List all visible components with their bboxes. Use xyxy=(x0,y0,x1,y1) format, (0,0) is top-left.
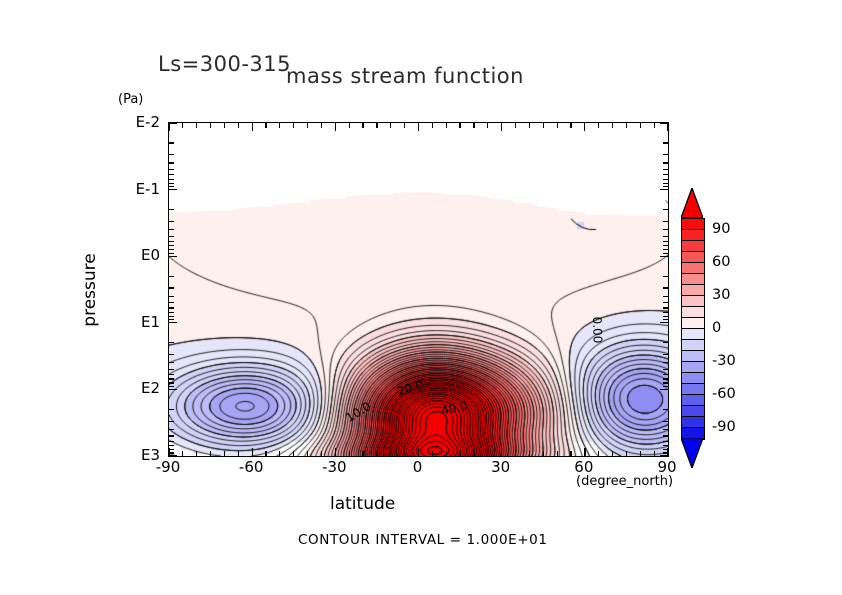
y-tick-minor xyxy=(169,241,174,242)
y-tick-minor xyxy=(663,287,668,288)
y-tick-minor xyxy=(169,386,174,387)
x-tick-minor xyxy=(487,451,488,456)
y-tick-minor xyxy=(663,316,668,317)
y-tick-minor xyxy=(663,445,668,446)
x-tick-minor xyxy=(265,451,266,456)
contour-interval-caption: CONTOUR INTERVAL = 1.000E+01 xyxy=(298,532,548,548)
y-tick-minor xyxy=(663,183,668,184)
x-tick-top xyxy=(418,123,419,131)
x-tick-top xyxy=(654,123,655,128)
y-tick-minor xyxy=(663,441,668,442)
y-tick-major xyxy=(660,455,668,456)
y-tick-minor xyxy=(663,296,668,297)
y-tick-label: E1 xyxy=(141,313,160,331)
y-tick-minor xyxy=(663,342,668,343)
x-tick-minor xyxy=(307,451,308,456)
y-axis-ticklabels: E-2E-1E0E1E2E3 xyxy=(110,122,164,455)
y-tick-minor xyxy=(169,307,174,308)
x-tick-top xyxy=(362,123,363,128)
x-tick-minor xyxy=(390,451,391,456)
y-tick-minor xyxy=(663,362,668,363)
contour-value-label: 20.0 xyxy=(395,377,425,399)
y-tick-minor xyxy=(663,245,668,246)
y-tick-minor xyxy=(169,186,174,187)
y-tick-minor xyxy=(663,421,668,422)
x-tick-label: -90 xyxy=(156,458,181,476)
x-tick-top xyxy=(432,123,433,128)
x-tick-label: 90 xyxy=(657,458,676,476)
x-axis-unit-label: (degree_north) xyxy=(576,474,673,489)
colorbar-band xyxy=(682,285,704,296)
x-tick-top xyxy=(335,123,336,131)
y-tick-minor xyxy=(663,154,668,155)
y-tick-minor xyxy=(663,241,668,242)
y-tick-minor xyxy=(169,382,174,383)
x-tick-minor xyxy=(543,451,544,456)
colorbar-band xyxy=(682,263,704,274)
y-tick-minor xyxy=(169,142,174,143)
colorbar-band xyxy=(682,417,704,428)
x-tick-minor xyxy=(321,451,322,456)
y-tick-minor xyxy=(169,362,174,363)
x-tick-major xyxy=(252,448,253,456)
y-tick-minor xyxy=(169,245,174,246)
x-tick-top xyxy=(307,123,308,128)
y-tick-minor xyxy=(663,174,668,175)
x-tick-top xyxy=(265,123,266,128)
x-tick-minor xyxy=(626,451,627,456)
y-tick-minor xyxy=(169,445,174,446)
colorbar-band xyxy=(682,406,704,417)
plot-overlay: 10.020.040.00.00 xyxy=(169,123,668,456)
y-tick-minor xyxy=(169,249,174,250)
x-tick-minor xyxy=(473,451,474,456)
y-tick-minor xyxy=(663,382,668,383)
x-tick-major xyxy=(418,448,419,456)
y-tick-minor xyxy=(663,249,668,250)
y-tick-minor xyxy=(169,354,174,355)
x-tick-label: -60 xyxy=(239,458,264,476)
x-tick-minor xyxy=(224,451,225,456)
y-tick-minor xyxy=(169,296,174,297)
x-tick-minor xyxy=(376,451,377,456)
y-tick-major xyxy=(660,189,668,190)
x-tick-minor xyxy=(515,451,516,456)
y-tick-minor xyxy=(663,253,668,254)
x-tick-minor xyxy=(529,451,530,456)
colorbar-band xyxy=(682,219,704,230)
y-tick-label: E0 xyxy=(141,246,160,264)
x-tick-top xyxy=(529,123,530,128)
y-tick-minor xyxy=(663,307,668,308)
y-tick-minor xyxy=(169,253,174,254)
y-tick-minor xyxy=(169,452,174,453)
x-tick-top xyxy=(168,123,169,131)
x-tick-top xyxy=(667,123,668,131)
colorbar-band xyxy=(682,340,704,351)
y-tick-minor xyxy=(663,429,668,430)
y-tick-minor xyxy=(663,221,668,222)
y-tick-minor xyxy=(169,342,174,343)
y-tick-major xyxy=(660,256,668,257)
contour-value-label: 10.0 xyxy=(343,399,373,425)
x-tick-minor xyxy=(598,451,599,456)
x-tick-major xyxy=(335,448,336,456)
colorbar-band xyxy=(682,274,704,285)
y-tick-minor xyxy=(169,429,174,430)
y-axis-label: pressure xyxy=(80,190,100,390)
colorbar[interactable] xyxy=(681,218,705,440)
x-tick-minor xyxy=(196,451,197,456)
y-tick-minor xyxy=(663,374,668,375)
x-tick-minor xyxy=(459,451,460,456)
x-tick-major xyxy=(501,448,502,456)
y-tick-minor xyxy=(169,169,174,170)
x-tick-label: 30 xyxy=(491,458,510,476)
y-tick-label: E-2 xyxy=(136,113,160,131)
x-tick-minor xyxy=(570,451,571,456)
contour-value-label: 0.00 xyxy=(590,316,605,343)
y-tick-minor xyxy=(663,179,668,180)
x-tick-top xyxy=(626,123,627,128)
y-tick-minor xyxy=(663,409,668,410)
colorbar-tick-label: 90 xyxy=(712,221,730,237)
x-tick-minor xyxy=(432,451,433,456)
x-tick-minor xyxy=(557,451,558,456)
y-tick-minor xyxy=(169,174,174,175)
x-tick-minor xyxy=(238,451,239,456)
y-tick-minor xyxy=(169,316,174,317)
y-tick-minor xyxy=(663,449,668,450)
y-tick-minor xyxy=(663,236,668,237)
x-tick-top xyxy=(224,123,225,128)
y-tick-minor xyxy=(169,162,174,163)
colorbar-tick-label: 60 xyxy=(712,254,730,270)
x-tick-top xyxy=(279,123,280,128)
x-tick-major xyxy=(584,448,585,456)
y-tick-minor xyxy=(169,374,174,375)
colorbar-band xyxy=(682,395,704,406)
x-tick-top xyxy=(321,123,322,128)
colorbar-band xyxy=(682,318,704,329)
y-tick-minor xyxy=(169,319,174,320)
colorbar-band xyxy=(682,241,704,252)
x-tick-top xyxy=(473,123,474,128)
y-tick-minor xyxy=(169,302,174,303)
x-tick-top xyxy=(238,123,239,128)
y-tick-minor xyxy=(169,378,174,379)
y-tick-minor xyxy=(663,435,668,436)
colorbar-band xyxy=(682,384,704,395)
x-tick-top xyxy=(404,123,405,128)
y-tick-minor xyxy=(663,369,668,370)
y-tick-minor xyxy=(663,142,668,143)
x-tick-minor xyxy=(279,451,280,456)
x-tick-top xyxy=(515,123,516,128)
x-tick-top xyxy=(349,123,350,128)
x-tick-top xyxy=(446,123,447,128)
y-tick-minor xyxy=(169,179,174,180)
y-tick-major xyxy=(660,122,668,123)
x-tick-minor xyxy=(446,451,447,456)
y-tick-major xyxy=(660,389,668,390)
colorbar-band xyxy=(682,296,704,307)
x-tick-minor xyxy=(182,451,183,456)
y-tick-minor xyxy=(169,154,174,155)
y-tick-minor xyxy=(663,312,668,313)
y-tick-minor xyxy=(663,276,668,277)
y-tick-minor xyxy=(169,409,174,410)
page-title: mass stream function xyxy=(286,64,524,88)
y-tick-minor xyxy=(169,312,174,313)
x-tick-top xyxy=(557,123,558,128)
x-tick-minor xyxy=(612,451,613,456)
y-tick-label: E-1 xyxy=(136,180,160,198)
y-tick-minor xyxy=(663,162,668,163)
x-tick-label: -30 xyxy=(322,458,347,476)
colorbar-band xyxy=(682,329,704,340)
x-tick-top xyxy=(612,123,613,128)
x-tick-minor xyxy=(404,451,405,456)
x-tick-top xyxy=(598,123,599,128)
y-tick-minor xyxy=(663,229,668,230)
y-tick-minor xyxy=(169,229,174,230)
x-tick-top xyxy=(543,123,544,128)
y-tick-minor xyxy=(169,421,174,422)
y-tick-major xyxy=(169,389,177,390)
x-tick-top xyxy=(196,123,197,128)
colorbar-tick-label: 30 xyxy=(712,287,730,303)
colorbar-band xyxy=(682,230,704,241)
y-tick-major xyxy=(660,322,668,323)
colorbar-band xyxy=(682,373,704,384)
y-tick-minor xyxy=(169,287,174,288)
y-tick-minor xyxy=(169,183,174,184)
subtitle-ls: Ls=300-315 xyxy=(158,52,291,76)
colorbar-tick-label: -30 xyxy=(712,353,736,369)
contour-value-label: 40.0 xyxy=(440,398,469,417)
x-tick-top xyxy=(210,123,211,128)
x-tick-label: 60 xyxy=(574,458,593,476)
y-tick-minor xyxy=(169,209,174,210)
colorbar-tick-label: -90 xyxy=(712,419,736,435)
y-tick-label: E2 xyxy=(141,379,160,397)
colorbar-band xyxy=(682,362,704,373)
colorbar-tick-label: -60 xyxy=(712,386,736,402)
y-tick-minor xyxy=(663,354,668,355)
colorbar-tick-label: 0 xyxy=(712,320,721,336)
colorbar-over-arrow xyxy=(681,188,703,218)
x-tick-top xyxy=(487,123,488,128)
x-tick-minor xyxy=(293,451,294,456)
x-tick-minor xyxy=(362,451,363,456)
y-tick-major xyxy=(169,122,177,123)
x-tick-minor xyxy=(349,451,350,456)
y-tick-minor xyxy=(663,452,668,453)
y-tick-minor xyxy=(663,319,668,320)
y-tick-major xyxy=(169,322,177,323)
y-tick-major xyxy=(169,455,177,456)
x-tick-top xyxy=(252,123,253,131)
x-tick-top xyxy=(570,123,571,128)
colorbar-under-arrow xyxy=(681,438,703,468)
y-tick-minor xyxy=(169,369,174,370)
pressure-unit-label: (Pa) xyxy=(118,92,143,107)
x-tick-minor xyxy=(640,451,641,456)
y-tick-major xyxy=(169,256,177,257)
y-tick-minor xyxy=(663,209,668,210)
y-tick-major xyxy=(169,189,177,190)
x-tick-top xyxy=(501,123,502,131)
y-tick-minor xyxy=(663,302,668,303)
x-tick-top xyxy=(390,123,391,128)
y-tick-minor xyxy=(169,435,174,436)
y-tick-minor xyxy=(169,221,174,222)
y-tick-minor xyxy=(663,386,668,387)
colorbar-band xyxy=(682,351,704,362)
y-tick-minor xyxy=(663,186,668,187)
y-tick-minor xyxy=(169,441,174,442)
colorbar-band xyxy=(682,307,704,318)
x-tick-top xyxy=(640,123,641,128)
x-tick-minor xyxy=(654,451,655,456)
x-tick-top xyxy=(293,123,294,128)
y-tick-minor xyxy=(663,169,668,170)
x-tick-top xyxy=(459,123,460,128)
x-tick-top xyxy=(376,123,377,128)
x-tick-top xyxy=(584,123,585,131)
x-tick-top xyxy=(182,123,183,128)
colorbar-band xyxy=(682,252,704,263)
y-tick-minor xyxy=(663,378,668,379)
x-axis-label: latitude xyxy=(330,494,395,514)
x-tick-label: 0 xyxy=(413,458,423,476)
y-tick-minor xyxy=(169,276,174,277)
contour-plot-panel[interactable]: 10.020.040.00.00 xyxy=(168,122,669,457)
y-tick-minor xyxy=(169,449,174,450)
x-tick-minor xyxy=(210,451,211,456)
y-tick-minor xyxy=(169,236,174,237)
